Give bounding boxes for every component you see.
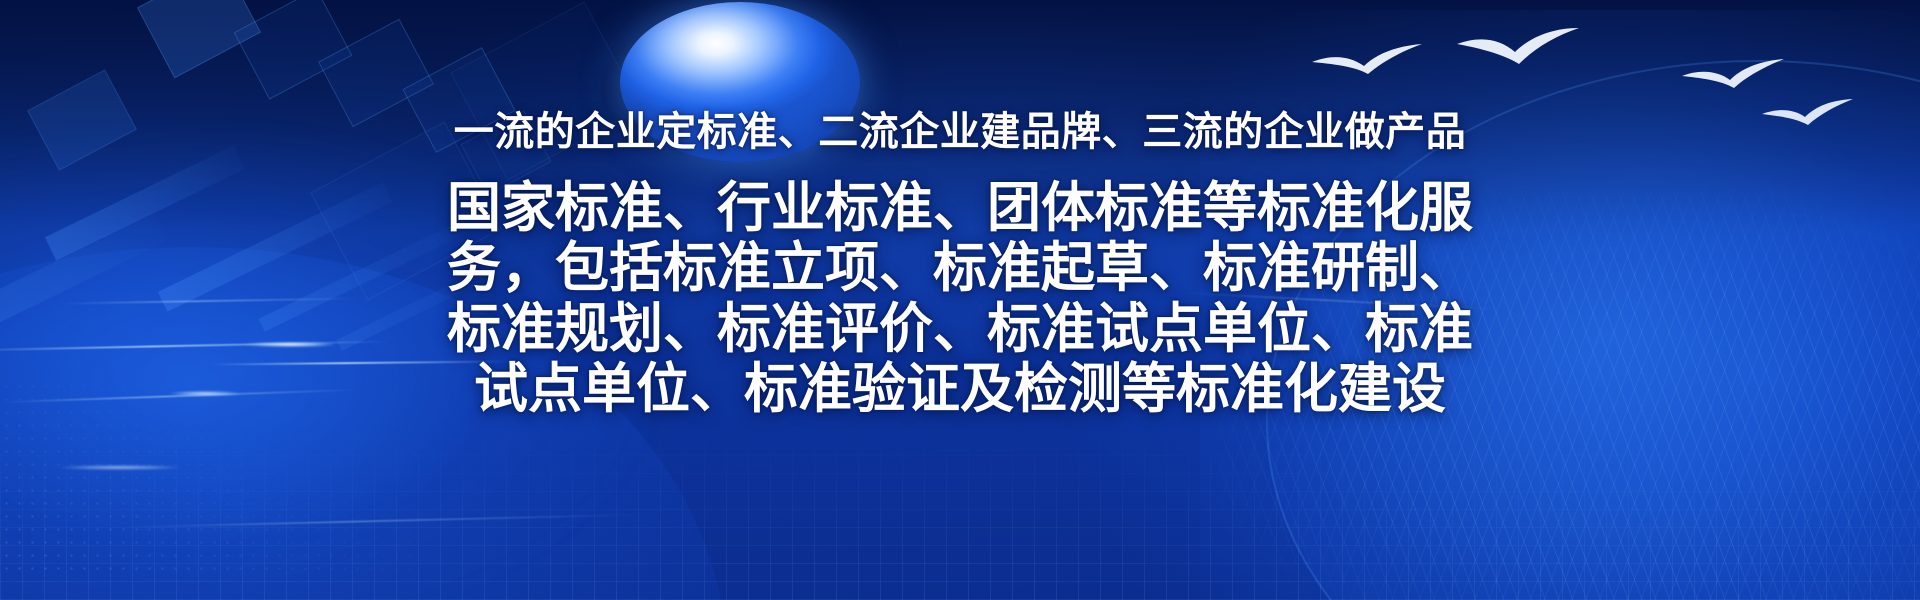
banner-body-line: 务，包括标准立项、标准起草、标准研制、: [445, 238, 1475, 298]
banner-text-block: 一流的企业定标准、二流企业建品牌、三流的企业做产品 国家标准、行业标准、团体标准…: [0, 0, 1920, 600]
banner-body: 国家标准、行业标准、团体标准等标准化服 务，包括标准立项、标准起草、标准研制、 …: [445, 178, 1475, 420]
hero-banner: 一流的企业定标准、二流企业建品牌、三流的企业做产品 国家标准、行业标准、团体标准…: [0, 0, 1920, 600]
banner-body-line: 国家标准、行业标准、团体标准等标准化服: [445, 178, 1475, 238]
banner-body-line: 标准规划、标准评价、标准试点单位、标准: [445, 299, 1475, 359]
banner-body-line: 试点单位、标准验证及检测等标准化建设: [445, 359, 1475, 419]
banner-headline: 一流的企业定标准、二流企业建品牌、三流的企业做产品: [454, 108, 1467, 156]
